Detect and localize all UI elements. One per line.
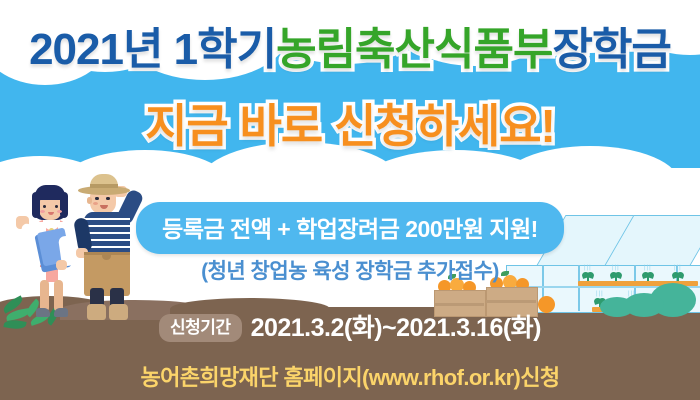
promotional-banner: ||| ||| ||| ||| ||| ||| |||	[0, 0, 700, 400]
highlight-pill-wrapper: 등록금 전액 + 학업장려금 200만원 지원!	[0, 202, 700, 254]
headline-part-1: 2021년 1학기	[29, 28, 276, 72]
crate-shadow	[486, 300, 536, 303]
orange-fruit	[538, 296, 555, 313]
call-to-action-subtitle: 지금 바로 신청하세요!	[0, 103, 700, 149]
irrigation-mist: |||	[596, 291, 604, 297]
page-title: 2021년 1학기 농림축산식품부 장학금	[0, 28, 700, 72]
benefit-highlight-pill: 등록금 전액 + 학업장려금 200만원 지원!	[136, 202, 564, 254]
eye	[106, 197, 110, 200]
period-badge: 신청기간	[159, 314, 242, 342]
application-period-row: 신청기간2021.3.2(화)~2021.3.16(화)	[0, 314, 700, 342]
website-line: 농어촌희망재단 홈페이지(www.rhof.or.kr)신청	[0, 360, 700, 392]
eye	[95, 197, 99, 200]
headline-part-2: 농림축산식품부	[276, 28, 552, 72]
period-date-range: 2021.3.2(화)~2021.3.16(화)	[251, 316, 541, 341]
hat-band	[90, 184, 118, 188]
additional-note: (청년 창업농 육성 장학금 추가접수)	[0, 255, 700, 285]
crate-shadow	[434, 303, 484, 306]
headline-part-3: 장학금	[552, 28, 670, 72]
